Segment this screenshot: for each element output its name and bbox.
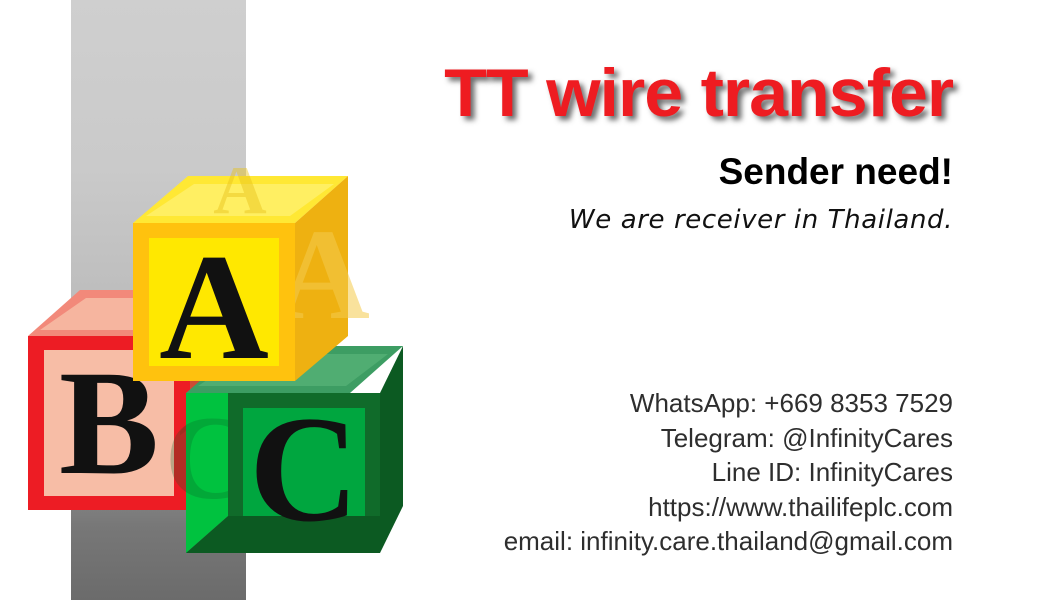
promo-card: B B C (0, 0, 1063, 600)
contact-whatsapp: WhatsApp: +669 8353 7529 (504, 386, 953, 421)
page-title: TT wire transfer (444, 56, 953, 130)
subtitle: Sender need! (719, 150, 953, 194)
contact-telegram: Telegram: @InfinityCares (504, 421, 953, 456)
text-column: TT wire transfer Sender need! We are rec… (0, 0, 1063, 600)
contact-email[interactable]: email: infinity.care.thailand@gmail.com (504, 524, 953, 559)
contact-line-id: Line ID: InfinityCares (504, 455, 953, 490)
tagline: We are receiver in Thailand. (569, 203, 953, 237)
contact-website[interactable]: https://www.thailifeplc.com (504, 490, 953, 525)
contact-list: WhatsApp: +669 8353 7529 Telegram: @Infi… (504, 386, 953, 559)
